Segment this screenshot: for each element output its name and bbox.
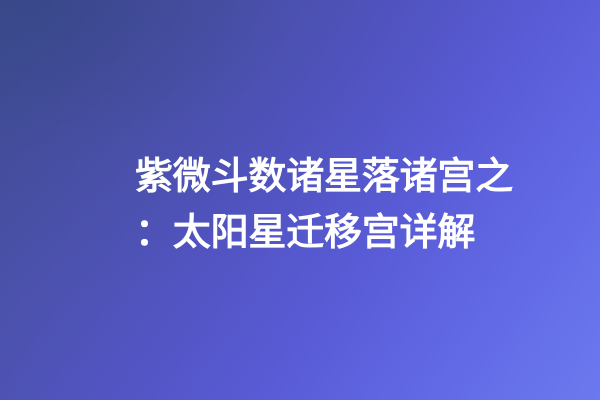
title-line-1: 紫微斗数诸星落诸宫之	[135, 148, 535, 204]
title-line-2: ：太阳星迁移宫详解	[135, 204, 535, 260]
title-card: 紫微斗数诸星落诸宫之 ：太阳星迁移宫详解	[0, 0, 600, 400]
title-block: 紫微斗数诸星落诸宫之 ：太阳星迁移宫详解	[135, 148, 535, 260]
